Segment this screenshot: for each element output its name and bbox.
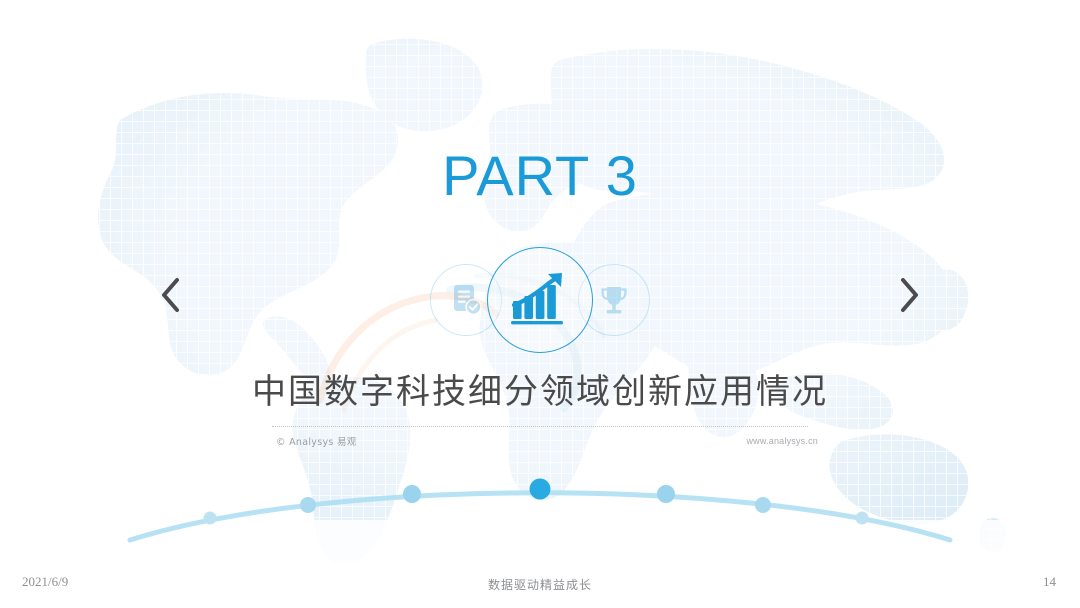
document-check-icon xyxy=(447,281,485,319)
next-slide-arrow[interactable] xyxy=(886,272,932,318)
chevron-left-icon xyxy=(158,275,184,315)
pagination-dot[interactable] xyxy=(755,497,771,513)
pagination-dot-active[interactable] xyxy=(530,479,551,500)
slide-footer: 2021/6/9 数据驱动精益成长 14 xyxy=(0,566,1080,608)
pagination-dot[interactable] xyxy=(856,512,869,525)
footer-page-number: 14 xyxy=(1043,574,1056,590)
title-divider xyxy=(272,426,808,428)
pagination-dot[interactable] xyxy=(403,485,421,503)
pagination-arc-svg xyxy=(0,455,1080,555)
previous-slide-arrow[interactable] xyxy=(148,272,194,318)
pagination-arc xyxy=(0,455,1080,555)
pagination-dot[interactable] xyxy=(204,512,217,525)
part-label: PART 3 xyxy=(0,148,1080,204)
arc-line xyxy=(130,493,950,540)
slide-root: PART 3 xyxy=(0,0,1080,608)
footer-tagline: 数据驱动精益成长 xyxy=(0,576,1080,593)
bar-chart-growth-icon xyxy=(509,271,571,329)
copyright-label: © Analysys 易观 xyxy=(276,434,357,448)
trophy-icon xyxy=(596,282,632,318)
bar-chart-growth-icon-circle xyxy=(487,247,593,353)
pagination-dot[interactable] xyxy=(657,485,675,503)
pagination-dot[interactable] xyxy=(300,497,316,513)
page-title: 中国数字科技细分领域创新应用情况 xyxy=(0,372,1080,413)
chevron-right-icon xyxy=(896,275,922,315)
pagination-dot-layer xyxy=(204,479,869,525)
website-url-label: www.analysys.cn xyxy=(746,436,818,446)
